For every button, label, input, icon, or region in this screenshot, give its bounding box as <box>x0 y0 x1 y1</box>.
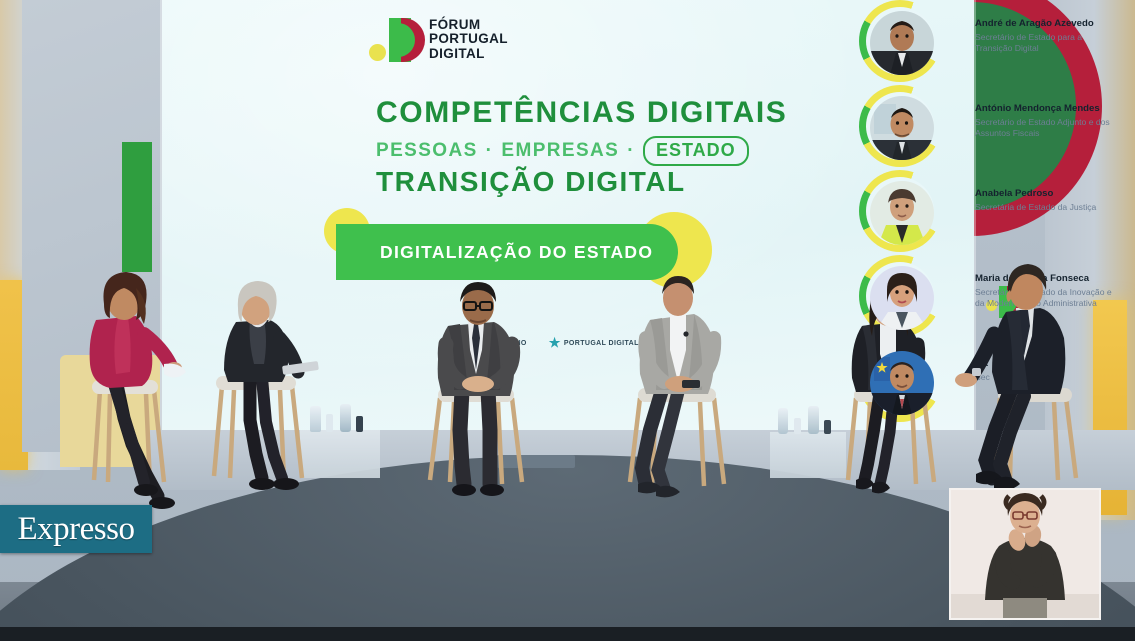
water-glass <box>326 414 333 432</box>
speaker-role: Secretária de Estado da Justiça <box>975 202 1115 213</box>
subtitle-pill-estado: ESTADO <box>643 136 749 166</box>
panelist-3 <box>616 272 746 502</box>
subtitle-word-pessoas: PESSOAS <box>376 140 478 162</box>
backdrop-green-accent <box>122 142 152 272</box>
banner-label: DIGITALIZAÇÃO DO ESTADO <box>380 242 653 263</box>
logo-line-3: DIGITAL <box>429 47 508 61</box>
interpreter-figure <box>951 490 1099 618</box>
subtitle-sep-1: · <box>486 140 494 162</box>
speaker-row: António Mendonça Mendes Secretário de Es… <box>859 81 1109 166</box>
broadcast-frame: FÓRUM PORTUGAL DIGITAL COMPETÊNCIAS DIGI… <box>0 0 1135 641</box>
logo-line-1: FÓRUM <box>429 18 508 32</box>
speaker-avatar <box>870 11 934 75</box>
water-glass <box>794 418 801 434</box>
moderator <box>58 268 208 518</box>
speaker-info: Anabela Pedroso Secretária de Estado da … <box>975 188 1115 213</box>
speaker-name: António Mendonça Mendes <box>975 103 1115 115</box>
speaker-role: Secretário de Estado Adjunto e dos Assun… <box>975 117 1115 140</box>
forum-logo-wordmark: FÓRUM PORTUGAL DIGITAL <box>429 18 508 61</box>
sponsor-pd-icon: ★ <box>549 335 561 351</box>
water-bottle <box>778 408 788 434</box>
speaker-info: António Mendonça Mendes Secretário de Es… <box>975 103 1115 140</box>
sign-language-interpreter-inset <box>949 488 1101 620</box>
slide-title-line-1: COMPETÊNCIAS DIGITAIS <box>376 96 787 130</box>
subtitle-sep-2: · <box>627 140 635 162</box>
logo-line-2: PORTUGAL <box>429 32 508 46</box>
speaker-info: André de Aragão Azevedo Secretário de Es… <box>975 18 1115 55</box>
speaker-avatar <box>870 96 934 160</box>
speaker-name: André de Aragão Azevedo <box>975 18 1115 30</box>
slide-subtitle: PESSOAS · EMPRESAS · ESTADO <box>376 136 749 166</box>
slide-title-line-2: TRANSIÇÃO DIGITAL <box>376 166 686 198</box>
water-bottle <box>808 406 819 434</box>
panelist-5 <box>954 250 1104 500</box>
speaker-avatar <box>870 266 934 330</box>
speaker-avatar <box>870 181 934 245</box>
water-glass <box>356 416 363 432</box>
panelist-2 <box>412 278 542 500</box>
speaker-role: Secretário de Estado para a Transição Di… <box>975 32 1115 55</box>
panelist-1 <box>196 278 326 498</box>
forum-portugal-digital-logo: FÓRUM PORTUGAL DIGITAL <box>367 16 507 70</box>
logo-dot-icon <box>369 44 386 61</box>
water-bottle <box>340 404 351 432</box>
subtitle-word-empresas: EMPRESAS <box>501 140 619 162</box>
speaker-name: Anabela Pedroso <box>975 188 1115 200</box>
channel-logo-text: Expresso <box>18 511 135 548</box>
speaker-row: Anabela Pedroso Secretária de Estado da … <box>859 166 1109 251</box>
channel-logo-expresso: Expresso <box>0 505 152 553</box>
frame-bottom-letterbox <box>0 627 1135 641</box>
speaker-avatar <box>870 351 934 415</box>
forum-logo-mark <box>367 16 425 64</box>
speaker-row: André de Aragão Azevedo Secretário de Es… <box>859 0 1109 81</box>
